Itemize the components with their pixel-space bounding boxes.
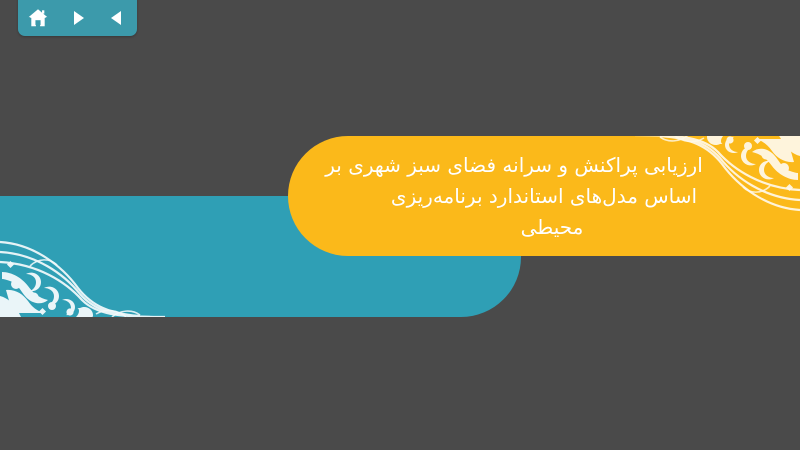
title-line-2: اساس مدل‌های استاندارد برنامه‌ریزی <box>391 181 697 212</box>
back-button[interactable] <box>102 5 132 31</box>
home-button[interactable] <box>23 5 53 31</box>
arabesque-ornament-bottom-left-icon <box>0 196 175 317</box>
forward-arrow-icon <box>68 8 88 28</box>
slide-title: ارزیابی پراکنش و سرانه فضای سبز شهری بر … <box>288 136 800 256</box>
title-line-3: محیطی <box>521 212 584 243</box>
forward-button[interactable] <box>63 5 93 31</box>
back-arrow-icon <box>107 8 127 28</box>
slide-canvas: ارزیابی پراکنش و سرانه فضای سبز شهری بر … <box>0 0 800 450</box>
viewer-navigation-bar <box>18 0 137 36</box>
home-icon <box>27 7 49 29</box>
title-line-1: ارزیابی پراکنش و سرانه فضای سبز شهری بر <box>325 150 703 181</box>
orange-title-panel: ارزیابی پراکنش و سرانه فضای سبز شهری بر … <box>288 136 800 256</box>
